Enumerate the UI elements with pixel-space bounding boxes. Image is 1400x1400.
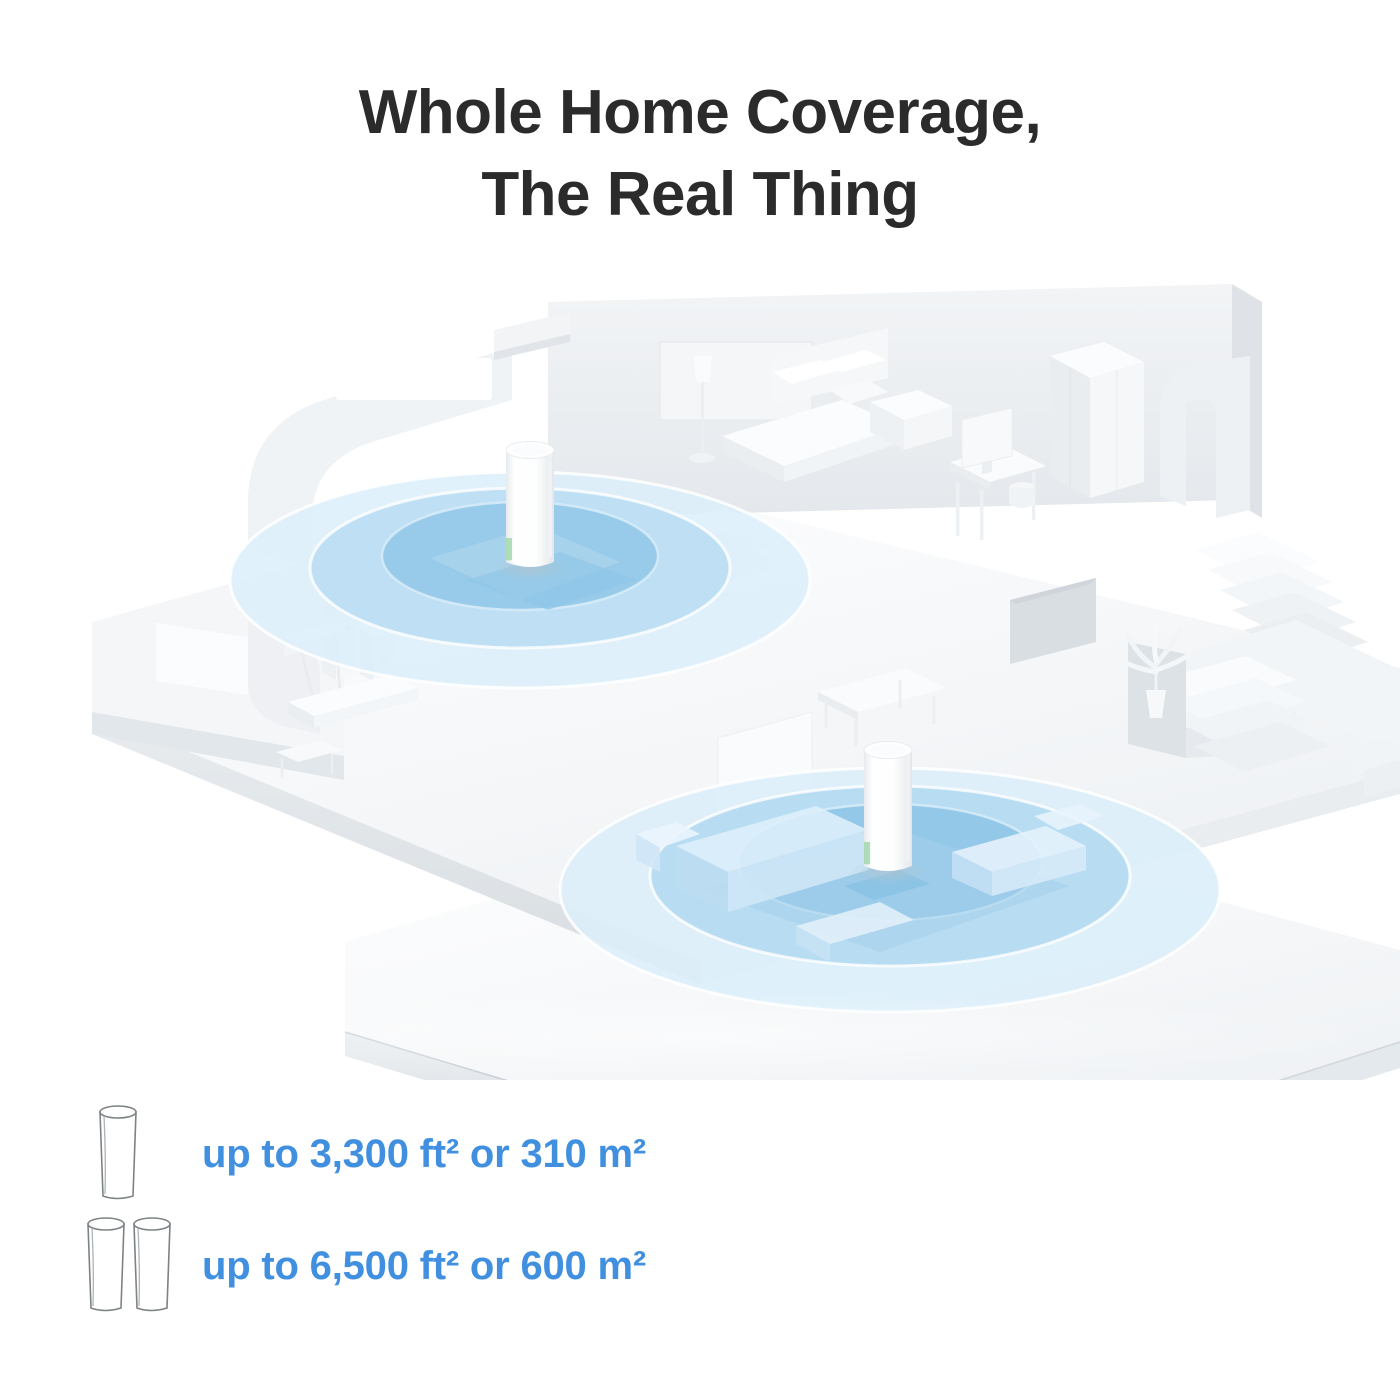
- headline-line-2: The Real Thing: [0, 154, 1400, 236]
- legend-row-single-unit: up to 3,300 ft² or 310 m²: [80, 1098, 980, 1210]
- legend-text-single-unit: up to 3,300 ft² or 310 m²: [202, 1132, 646, 1177]
- home-coverage-illustration: [0, 250, 1400, 1080]
- wardrobe: [1050, 342, 1144, 498]
- two-deco-units-icon: [80, 1210, 202, 1322]
- one-deco-unit-icon: [80, 1098, 202, 1210]
- headline-line-1: Whole Home Coverage,: [359, 78, 1041, 147]
- page-title: Whole Home Coverage, The Real Thing: [0, 72, 1400, 236]
- product-feature-page: Whole Home Coverage, The Real Thing: [0, 0, 1400, 1400]
- legend-text-double-unit: up to 6,500 ft² or 600 m²: [202, 1244, 646, 1289]
- legend-row-double-unit: up to 6,500 ft² or 600 m²: [80, 1210, 980, 1322]
- coverage-legend: up to 3,300 ft² or 310 m² up to 6,500 ft…: [80, 1098, 980, 1322]
